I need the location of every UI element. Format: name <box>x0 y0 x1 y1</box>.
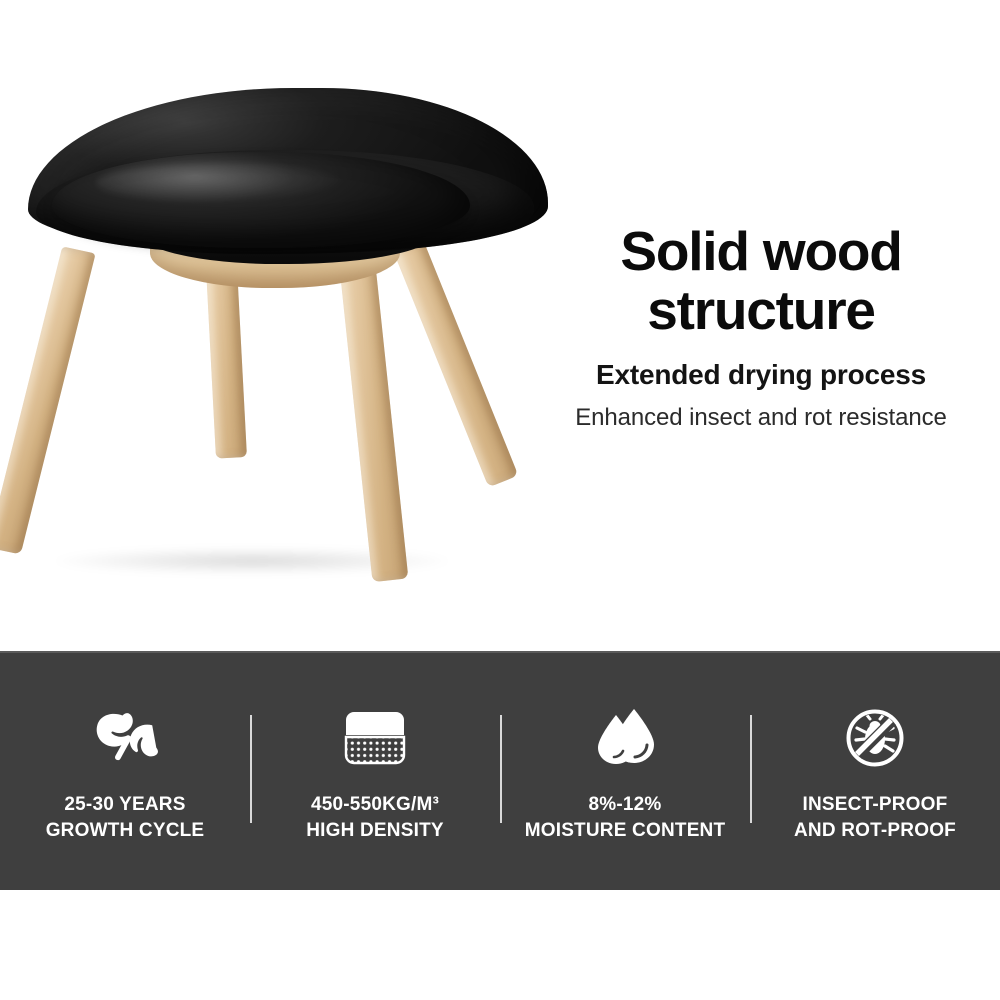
subheadline-secondary: Enhanced insect and rot resistance <box>560 404 962 432</box>
feature-line-2: MOISTURE CONTENT <box>525 818 726 843</box>
feature-bar: 25-30 YEARS GROWTH CYCLE <box>0 651 1000 890</box>
leaf-icon <box>92 706 158 770</box>
density-block-icon <box>343 706 407 770</box>
chair-leg-front-right <box>338 250 408 582</box>
feature-item-growth-cycle: 25-30 YEARS GROWTH CYCLE <box>0 653 250 890</box>
feature-line-2: GROWTH CYCLE <box>46 818 205 843</box>
photo-stage <box>0 0 560 651</box>
feature-label-growth-cycle: 25-30 YEARS GROWTH CYCLE <box>46 792 205 843</box>
subheadline-primary: Extended drying process <box>560 359 962 391</box>
hero-section: Solid wood structure Extended drying pro… <box>0 0 1000 651</box>
feature-item-moisture-content: 8%-12% MOISTURE CONTENT <box>500 653 750 890</box>
feature-line-2: AND ROT-PROOF <box>794 818 956 843</box>
feature-label-moisture-content: 8%-12% MOISTURE CONTENT <box>525 792 726 843</box>
product-feature-banner: Solid wood structure Extended drying pro… <box>0 0 1000 1000</box>
no-insect-icon <box>843 706 907 770</box>
bottom-white-strip <box>0 890 1000 1000</box>
feature-line-1: INSECT-PROOF <box>794 792 956 817</box>
page-title: Solid wood structure <box>560 222 962 341</box>
feature-item-high-density: 450-550KG/M³ HIGH DENSITY <box>250 653 500 890</box>
chair-seat-highlight <box>96 163 346 203</box>
chair-leg-front-left <box>0 246 96 554</box>
chair-leg-rear-right <box>393 239 518 487</box>
feature-line-1: 8%-12% <box>525 792 726 817</box>
feature-item-insect-proof: INSECT-PROOF AND ROT-PROOF <box>750 653 1000 890</box>
water-drops-icon <box>593 706 657 770</box>
headline-block: Solid wood structure Extended drying pro… <box>560 222 962 432</box>
product-photo <box>0 0 560 651</box>
headline-line-2: structure <box>560 281 962 340</box>
feature-line-1: 25-30 YEARS <box>46 792 205 817</box>
headline-line-1: Solid wood <box>620 220 901 282</box>
feature-label-insect-proof: INSECT-PROOF AND ROT-PROOF <box>794 792 956 843</box>
headline-panel: Solid wood structure Extended drying pro… <box>560 0 1000 651</box>
feature-label-high-density: 450-550KG/M³ HIGH DENSITY <box>306 792 444 843</box>
feature-line-1: 450-550KG/M³ <box>306 792 444 817</box>
feature-line-2: HIGH DENSITY <box>306 818 444 843</box>
